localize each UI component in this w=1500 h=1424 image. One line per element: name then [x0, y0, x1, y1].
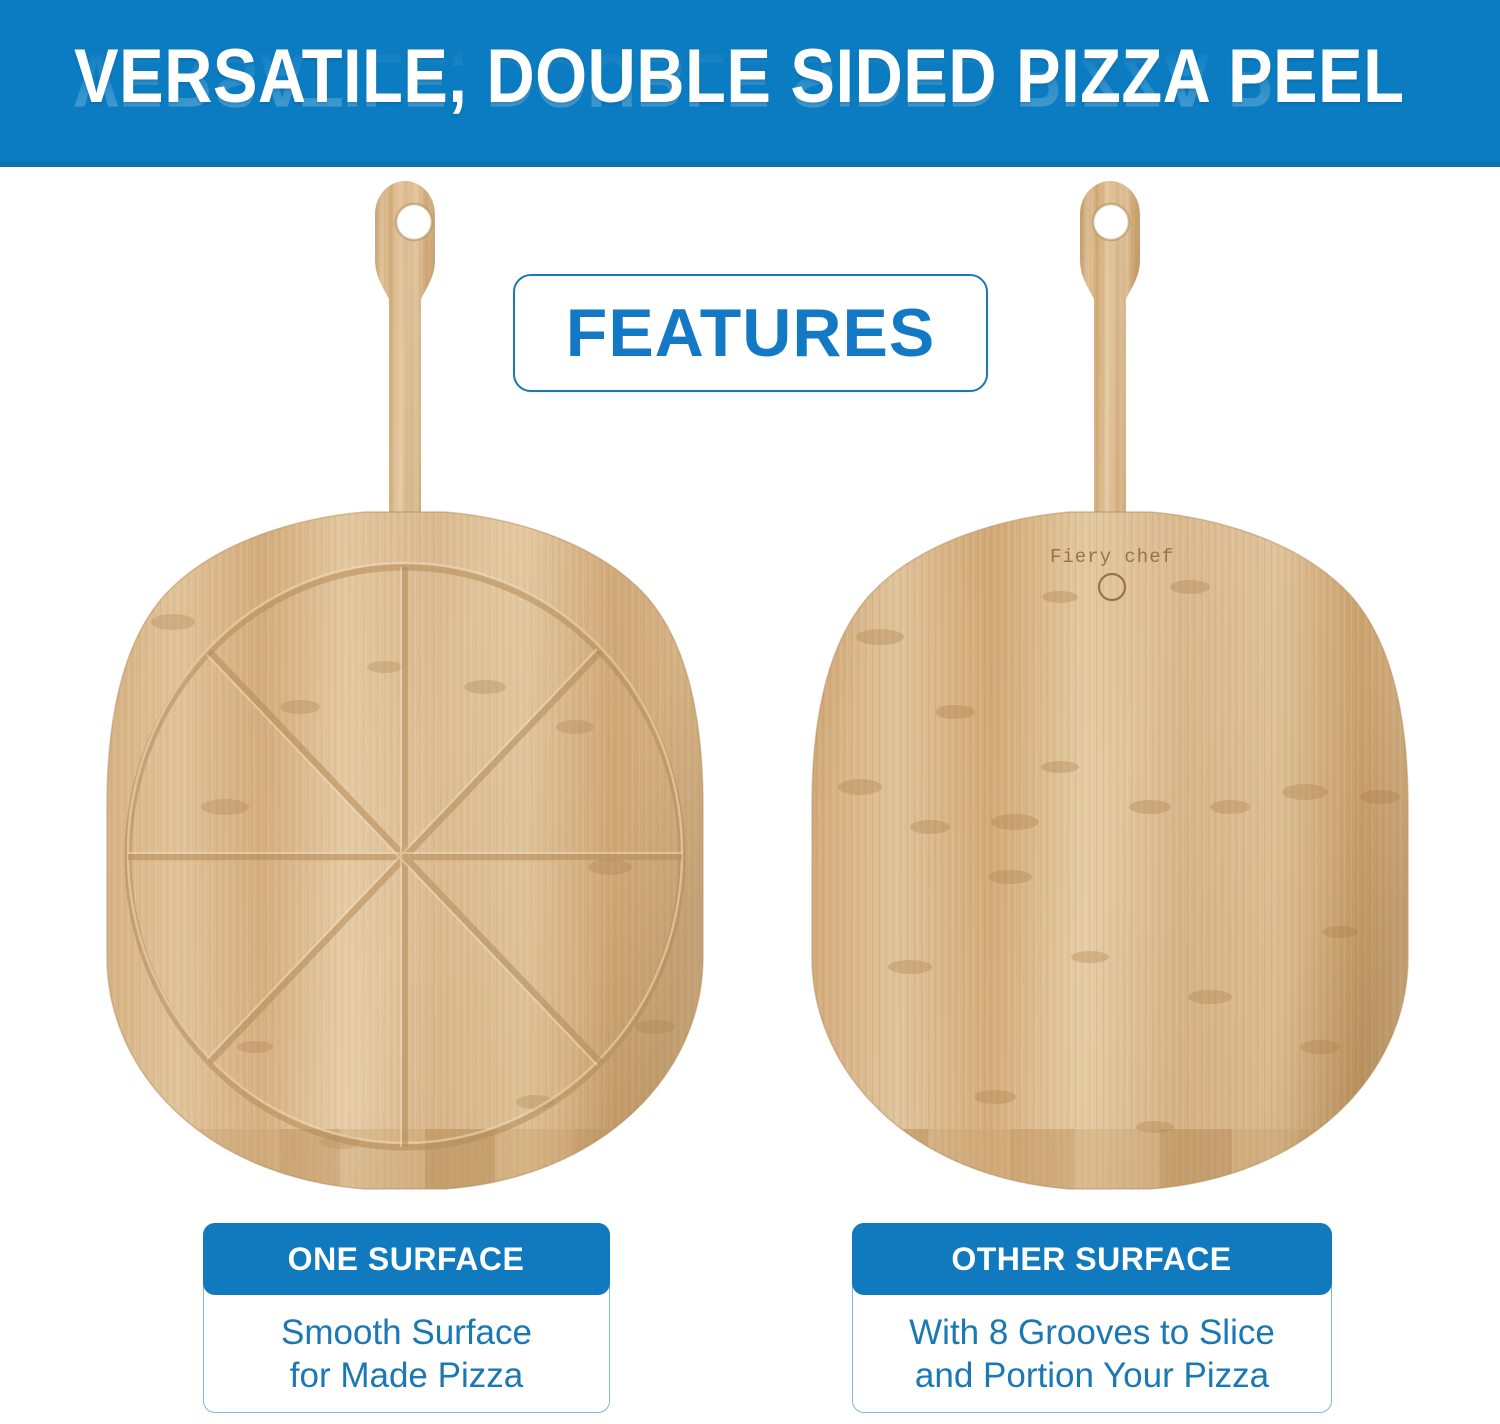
caption-body-other-surface: With 8 Grooves to Slice and Portion Your…: [853, 1296, 1331, 1412]
header-banner: VERSATILE, DOUBLE SIDED PIZZA PEEL VERSA…: [0, 0, 1500, 162]
handle-smooth: [1080, 181, 1140, 527]
product-image-stage: Fiery chef: [0, 167, 1500, 1217]
caption-card-header-one-surface: ONE SURFACE: [203, 1223, 610, 1295]
caption-line-2: for Made Pizza: [290, 1354, 523, 1397]
blade-grooved: [55, 497, 755, 1199]
caption-line-2: and Portion Your Pizza: [915, 1354, 1269, 1397]
brand-engraving-text: Fiery chef: [1050, 546, 1174, 568]
caption-line-1: Smooth Surface: [281, 1311, 532, 1354]
caption-heading: ONE SURFACE: [288, 1242, 525, 1276]
caption-card-one-surface: ONE SURFACE Smooth Surface for Made Pizz…: [203, 1223, 610, 1413]
caption-card-other-surface: OTHER SURFACE With 8 Grooves to Slice an…: [852, 1223, 1332, 1413]
slice-grooves: [128, 567, 682, 1147]
caption-heading: OTHER SURFACE: [951, 1242, 1231, 1276]
page-title: VERSATILE, DOUBLE SIDED PIZZA PEEL: [74, 38, 1271, 116]
product-image-grooved-peel: [55, 167, 755, 1217]
caption-card-header-other-surface: OTHER SURFACE: [852, 1223, 1332, 1295]
caption-body-one-surface: Smooth Surface for Made Pizza: [204, 1296, 609, 1412]
handle-grooved: [375, 181, 435, 527]
caption-line-1: With 8 Grooves to Slice: [909, 1311, 1275, 1354]
product-image-smooth-peel: Fiery chef: [760, 167, 1460, 1217]
blade-smooth: Fiery chef: [760, 497, 1460, 1199]
